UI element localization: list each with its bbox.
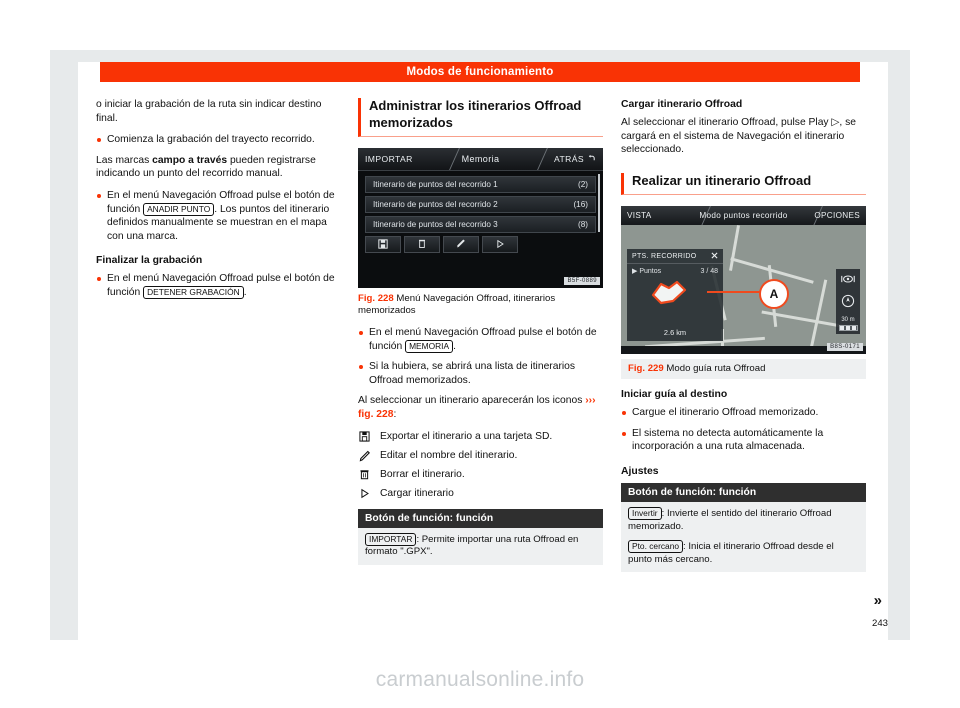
pencil-icon xyxy=(456,236,467,254)
back-arrow-icon xyxy=(587,154,596,165)
perspective-icon[interactable] xyxy=(840,272,856,290)
map-info-header: PTS. RECORRIDO xyxy=(627,249,723,264)
navigation-map-screen: VISTA Modo puntos recorrido OPCIONES xyxy=(621,206,866,354)
right-subheading-ajustes: Ajustes xyxy=(621,465,866,478)
map-road xyxy=(729,225,740,271)
callout-boton-de-funcion-right: Botón de función: función Invertir: Invi… xyxy=(621,483,866,572)
list-item-count: (8) xyxy=(578,220,588,229)
tab-divider-right xyxy=(513,148,548,170)
right-bullet-sistema: El sistema no detecta automáticamente la… xyxy=(621,427,866,454)
map-info-points-label: ▶ Puntos xyxy=(632,267,661,275)
page-number: 243 xyxy=(872,618,888,629)
mmi-edit-button[interactable] xyxy=(443,236,479,253)
continue-marker-icon: » xyxy=(874,592,882,609)
right-bullet-cargue-text: Cargue el itinerario Offroad memorizado. xyxy=(632,407,818,418)
watermark: carmanualsonline.info xyxy=(0,668,960,692)
cross-reference-arrow-icon: ››› xyxy=(585,395,595,406)
left-bullet-record-start: Comienza la grabación del trayecto recor… xyxy=(96,133,340,147)
save-icon xyxy=(378,236,388,254)
play-icon xyxy=(495,236,505,254)
mmi-play-button[interactable] xyxy=(482,236,518,253)
page-columns: o iniciar la grabación de la ruta sin in… xyxy=(96,98,866,618)
mmi-scrollbar[interactable] xyxy=(598,174,600,232)
icon-legend-text: Borrar el itinerario. xyxy=(380,468,465,481)
callout-body: IMPORTAR: Permite importar una ruta Offr… xyxy=(358,528,603,565)
middle-icons-paragraph: Al seleccionar un itinerario aparecerán … xyxy=(358,394,603,421)
list-item[interactable]: Itinerario de puntos del recorrido 2 (16… xyxy=(365,196,596,213)
map-tab-modo-puntos: Modo puntos recorrido xyxy=(699,206,787,225)
map-tab-bar: VISTA Modo puntos recorrido OPCIONES xyxy=(621,206,866,226)
callout-item: IMPORTAR: Permite importar una ruta Offr… xyxy=(365,533,596,559)
map-canvas[interactable]: PTS. RECORRIDO ▶ Puntos 3 / 48 2.6 km xyxy=(621,225,866,346)
middle-column: Administrar los itinerarios Offroad memo… xyxy=(358,98,603,618)
sd-export-icon xyxy=(358,430,371,442)
callout-heading: Botón de función: función xyxy=(358,509,603,528)
function-button-anadir-punto[interactable]: ANADIR PUNTO xyxy=(143,203,214,216)
callout-label-a: A xyxy=(759,279,789,309)
list-item-count: (16) xyxy=(573,200,588,209)
page-header-band: Modos de funcionamiento xyxy=(100,62,860,82)
mmi-action-bar xyxy=(365,236,596,253)
right-column: Cargar itinerario Offroad Al seleccionar… xyxy=(621,98,866,618)
icon-legend-row: Editar el nombre del itinerario. xyxy=(358,449,603,462)
list-item[interactable]: Itinerario de puntos del recorrido 1 (2) xyxy=(365,176,596,193)
figure-228-caption: Fig. 228 Menú Navegación Offroad, itiner… xyxy=(358,293,603,317)
right-load-paragraph: Al seleccionar el itinerario Offroad, pu… xyxy=(621,116,866,157)
callout-body: Invertir: Invierte el sentido del itiner… xyxy=(621,502,866,572)
close-icon[interactable] xyxy=(711,252,718,261)
callout-boton-de-funcion-middle: Botón de función: función IMPORTAR: Perm… xyxy=(358,509,603,565)
figure-image-code: B5F-0889 xyxy=(564,277,600,285)
function-button-pto-cercano[interactable]: Pto. cercano xyxy=(628,540,683,553)
mmi-itinerary-list: Itinerario de puntos del recorrido 1 (2)… xyxy=(358,171,603,253)
trash-icon xyxy=(417,236,427,254)
mmi-tab-importar[interactable]: IMPORTAR xyxy=(365,148,413,170)
left-bullet-stop-record-post: . xyxy=(244,287,247,298)
map-side-toolbar: 30 m xyxy=(836,269,860,334)
icon-legend-text: Editar el nombre del itinerario. xyxy=(380,449,517,462)
route-marker-icon xyxy=(647,277,691,307)
function-button-importar[interactable]: IMPORTAR xyxy=(365,533,416,546)
icon-legend-text: Cargar itinerario xyxy=(380,487,454,500)
figure-229: VISTA Modo puntos recorrido OPCIONES xyxy=(621,206,866,354)
list-item-label: Itinerario de puntos del recorrido 3 xyxy=(373,220,498,229)
map-tab-opciones[interactable]: OPCIONES xyxy=(814,206,860,225)
function-button-detener-grabacion[interactable]: DETENER GRABACIÓN xyxy=(143,286,244,299)
mmi-save-button[interactable] xyxy=(365,236,401,253)
map-info-title: PTS. RECORRIDO xyxy=(632,253,696,260)
compass-icon[interactable] xyxy=(841,294,855,313)
icon-legend-row: Borrar el itinerario. xyxy=(358,468,603,481)
callout-heading: Botón de función: función xyxy=(621,483,866,502)
icon-legend-row: Exportar el itinerario a una tarjeta SD. xyxy=(358,430,603,443)
function-button-invertir[interactable]: Invertir xyxy=(628,507,662,520)
mmi-tab-atras[interactable]: ATRÁS xyxy=(554,148,596,170)
mmi-tab-atras-label: ATRÁS xyxy=(554,154,584,164)
map-road xyxy=(810,280,827,349)
trash-icon xyxy=(358,468,371,480)
right-subheading-cargar: Cargar itinerario Offroad xyxy=(621,98,866,111)
callout-item: Pto. cercano: Inicia el itinerario Offro… xyxy=(628,540,859,566)
icon-legend-row: Cargar itinerario xyxy=(358,487,603,500)
right-bullet-sistema-text: El sistema no detecta automáticamente la… xyxy=(632,428,823,453)
function-button-memoria[interactable]: MEMORIA xyxy=(405,340,453,353)
section-heading-realizar: Realizar un itinerario Offroad xyxy=(621,173,866,196)
mmi-tab-memoria: Memoria xyxy=(462,148,500,170)
middle-bullet-memoria-pre: En el menú Navegación Offroad pulse el b… xyxy=(369,327,597,352)
middle-icons-pre: Al seleccionar un itinerario aparecerán … xyxy=(358,395,585,406)
figure-228: IMPORTAR Memoria ATRÁS Itinerario de pun… xyxy=(358,148,603,288)
page-header-title: Modos de funcionamiento xyxy=(406,66,553,78)
middle-bullet-memoria-post: . xyxy=(453,341,456,352)
map-tab-vista[interactable]: VISTA xyxy=(627,206,652,225)
icon-legend-text: Exportar el itinerario a una tarjeta SD. xyxy=(380,430,552,443)
map-info-points-value: 3 / 48 xyxy=(700,268,718,275)
left-bullet-stop-record: En el menú Navegación Offroad pulse el b… xyxy=(96,272,340,299)
figure-229-caption: Fig. 229 Modo guía ruta Offroad xyxy=(621,359,866,379)
tab-divider-left xyxy=(425,148,460,170)
figure-228-number: Fig. 228 xyxy=(358,293,394,304)
left-marks-paragraph: Las marcas campo a través pueden registr… xyxy=(96,154,340,181)
infotainment-screen-memoria: IMPORTAR Memoria ATRÁS Itinerario de pun… xyxy=(358,148,603,288)
left-intro-paragraph: o iniciar la grabación de la ruta sin in… xyxy=(96,98,340,125)
callout-item: Invertir: Invierte el sentido del itiner… xyxy=(628,507,859,533)
list-item-count: (2) xyxy=(578,180,588,189)
map-scale-bar xyxy=(839,325,858,331)
left-marks-pre: Las marcas xyxy=(96,155,152,166)
map-info-distance: 2.6 km xyxy=(627,328,723,337)
left-bullet-record-start-text: Comienza la grabación del trayecto recor… xyxy=(107,134,315,145)
figure-image-code: B8S-0171 xyxy=(827,343,863,351)
mmi-tab-bar: IMPORTAR Memoria ATRÁS xyxy=(358,148,603,171)
middle-icons-post: : xyxy=(393,409,396,420)
left-subheading-finalizar: Finalizar la grabación xyxy=(96,254,340,267)
right-bullet-cargue: Cargue el itinerario Offroad memorizado. xyxy=(621,406,866,420)
left-marks-bold: campo a través xyxy=(152,155,227,166)
middle-bullet-memoria: En el menú Navegación Offroad pulse el b… xyxy=(358,326,603,353)
map-scale: 30 m xyxy=(839,317,858,331)
left-column: o iniciar la grabación de la ruta sin in… xyxy=(96,98,340,618)
map-info-points-row: ▶ Puntos 3 / 48 xyxy=(627,264,723,278)
section-heading-administrar: Administrar los itinerarios Offroad memo… xyxy=(358,98,603,137)
list-item-label: Itinerario de puntos del recorrido 2 xyxy=(373,200,498,209)
right-subheading-iniciar: Iniciar guía al destino xyxy=(621,388,866,401)
icon-legend-list: Exportar el itinerario a una tarjeta SD.… xyxy=(358,430,603,500)
middle-bullet-lista-text: Si la hubiera, se abrirá una lista de it… xyxy=(369,361,575,386)
map-scale-label: 30 m xyxy=(841,317,854,323)
middle-bullet-lista: Si la hubiera, se abrirá una lista de it… xyxy=(358,360,603,387)
left-bullet-add-point: En el menú Navegación Offroad pulse el b… xyxy=(96,189,340,243)
play-icon xyxy=(358,487,371,499)
list-item[interactable]: Itinerario de puntos del recorrido 3 (8) xyxy=(365,216,596,233)
cross-reference-fig-228[interactable]: fig. 228 xyxy=(358,409,393,420)
list-item-label: Itinerario de puntos del recorrido 1 xyxy=(373,180,498,189)
figure-229-caption-text: Modo guía ruta Offroad xyxy=(666,363,765,374)
callout-leader-line xyxy=(707,291,763,293)
pencil-icon xyxy=(358,449,371,462)
figure-229-number: Fig. 229 xyxy=(628,363,664,374)
mmi-delete-button[interactable] xyxy=(404,236,440,253)
